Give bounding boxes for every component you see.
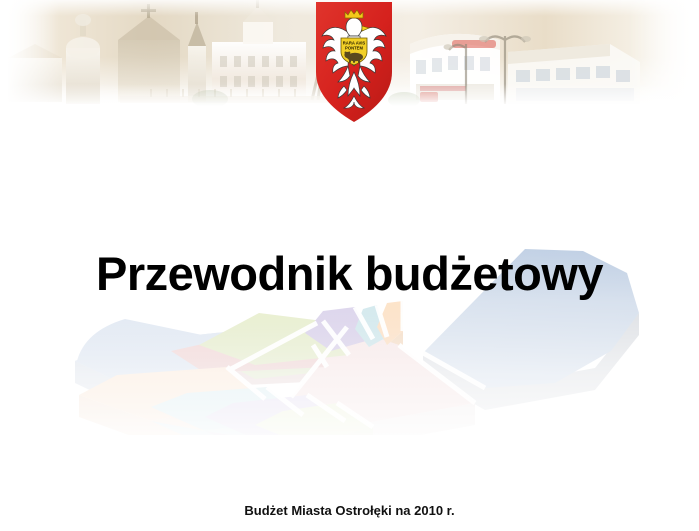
- slide-subtitle: Budżet Miasta Ostrołęki na 2010 r.: [0, 503, 699, 518]
- crest-motto-line2: PONTEM: [345, 46, 363, 51]
- coat-of-arms-icon: RARA AVIS PONTEM: [310, 0, 398, 124]
- page-title: Przewodnik budżetowy: [0, 250, 699, 297]
- presentation-slide: RARA AVIS PONTEM: [0, 0, 699, 531]
